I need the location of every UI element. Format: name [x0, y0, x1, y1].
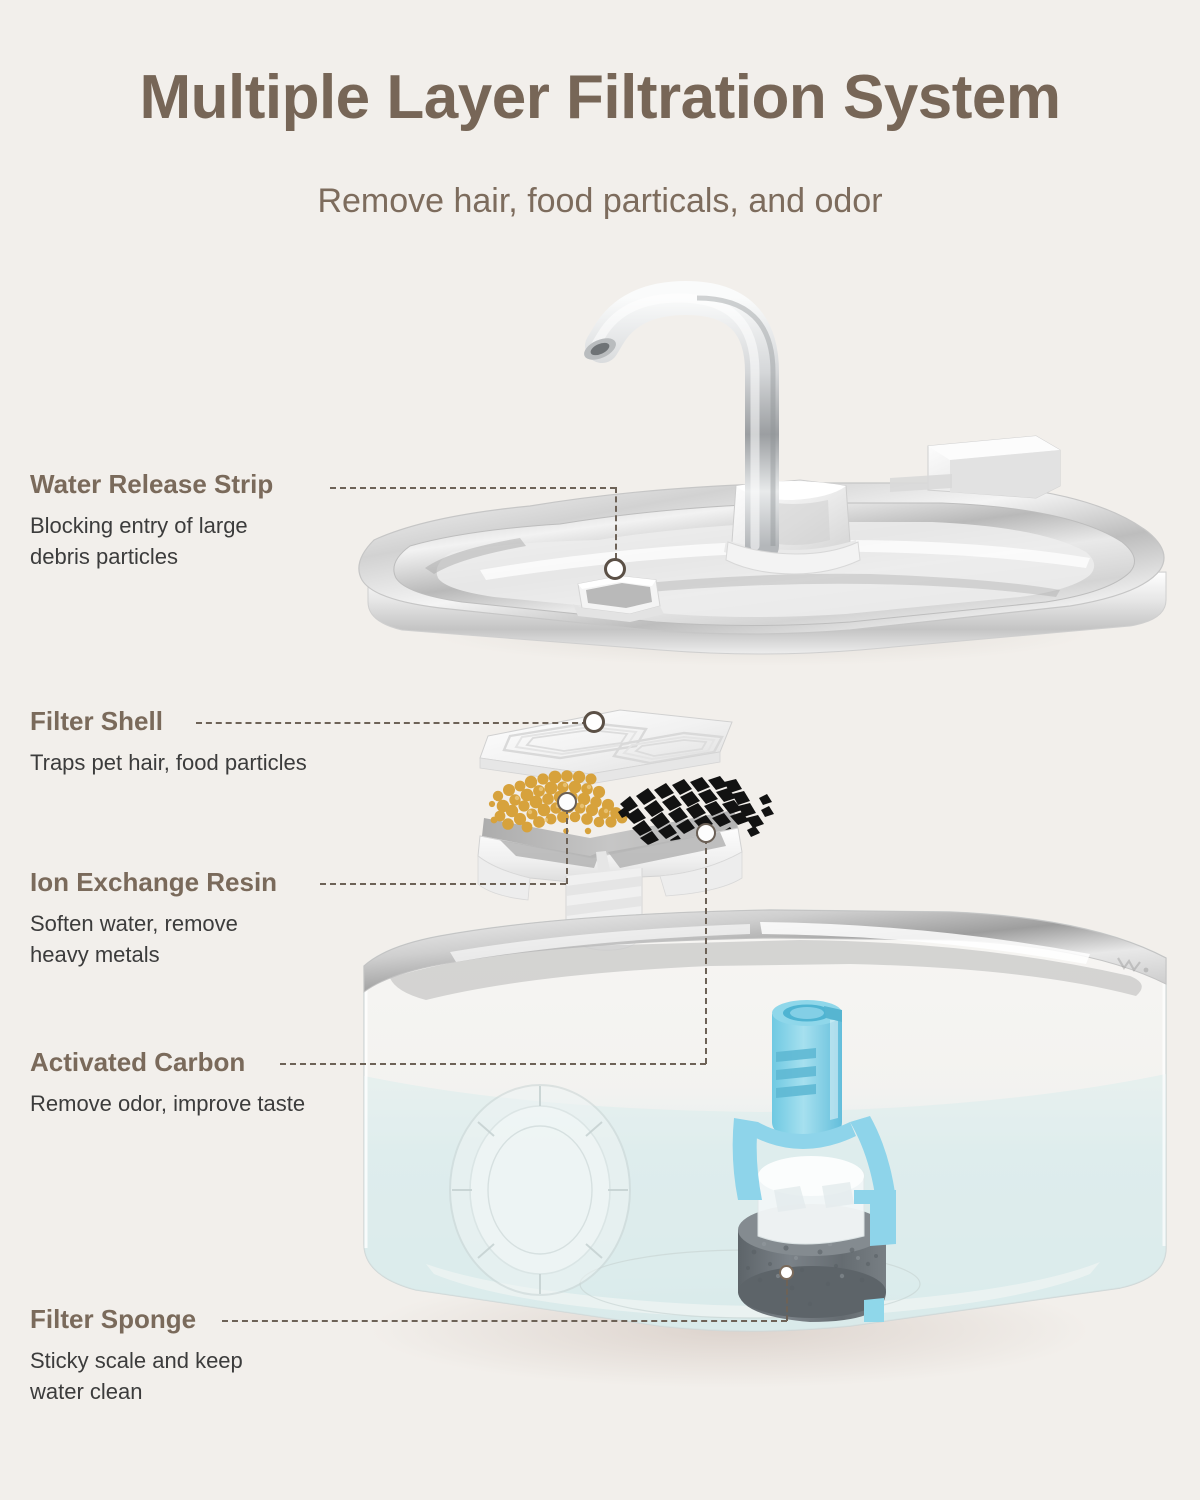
water-release-strip-part — [573, 576, 664, 622]
marker-activated-carbon — [696, 823, 716, 843]
leader-line-water-release-strip-drop — [615, 487, 617, 559]
callout-filter-sponge: Filter Sponge Sticky scale and keep wate… — [30, 1305, 243, 1407]
leader-line-filter-sponge — [222, 1320, 787, 1322]
page-title: Multiple Layer Filtration System — [0, 62, 1200, 133]
callout-title-water-release-strip: Water Release Strip — [30, 470, 273, 499]
leader-line-activated-carbon-rise — [705, 838, 707, 1064]
leader-line-water-release-strip — [330, 487, 616, 489]
leader-line-activated-carbon — [280, 1063, 706, 1065]
callout-activated-carbon: Activated Carbon Remove odor, improve ta… — [30, 1048, 305, 1119]
infographic-page: Multiple Layer Filtration System Remove … — [0, 0, 1200, 1500]
round-filter-cap — [450, 1085, 630, 1295]
callout-desc-filter-sponge: Sticky scale and keep water clean — [30, 1345, 243, 1407]
marker-filter-shell — [583, 711, 605, 733]
callout-ion-exchange-resin: Ion Exchange Resin Soften water, remove … — [30, 868, 277, 970]
page-subtitle: Remove hair, food particals, and odor — [0, 182, 1200, 221]
callout-desc-filter-shell: Traps pet hair, food particles — [30, 747, 307, 778]
marker-filter-sponge — [779, 1265, 794, 1280]
callout-filter-shell: Filter Shell Traps pet hair, food partic… — [30, 707, 307, 778]
callout-title-filter-shell: Filter Shell — [30, 707, 307, 736]
marker-ion-exchange-resin — [557, 792, 577, 812]
pump-intake-tube — [772, 1000, 842, 1140]
callout-title-ion-exchange-resin: Ion Exchange Resin — [30, 868, 277, 897]
callout-water-release-strip: Water Release Strip Blocking entry of la… — [30, 470, 273, 572]
callout-title-activated-carbon: Activated Carbon — [30, 1048, 305, 1077]
callout-title-filter-sponge: Filter Sponge — [30, 1305, 243, 1334]
callout-desc-ion-exchange-resin: Soften water, remove heavy metals — [30, 908, 277, 970]
callout-desc-activated-carbon: Remove odor, improve taste — [30, 1088, 305, 1119]
stainless-steel-lid-illustration — [330, 250, 1180, 670]
leader-line-filter-sponge-rise — [786, 1280, 788, 1321]
leader-line-ion-exchange-resin — [320, 883, 566, 885]
lid-control-block — [890, 436, 1060, 498]
leader-line-ion-exchange-resin-rise — [566, 808, 568, 884]
callout-desc-water-release-strip: Blocking entry of large debris particles — [30, 510, 273, 572]
marker-water-release-strip — [604, 558, 626, 580]
water-tank-illustration — [330, 860, 1190, 1420]
pump-housing — [758, 1156, 864, 1244]
